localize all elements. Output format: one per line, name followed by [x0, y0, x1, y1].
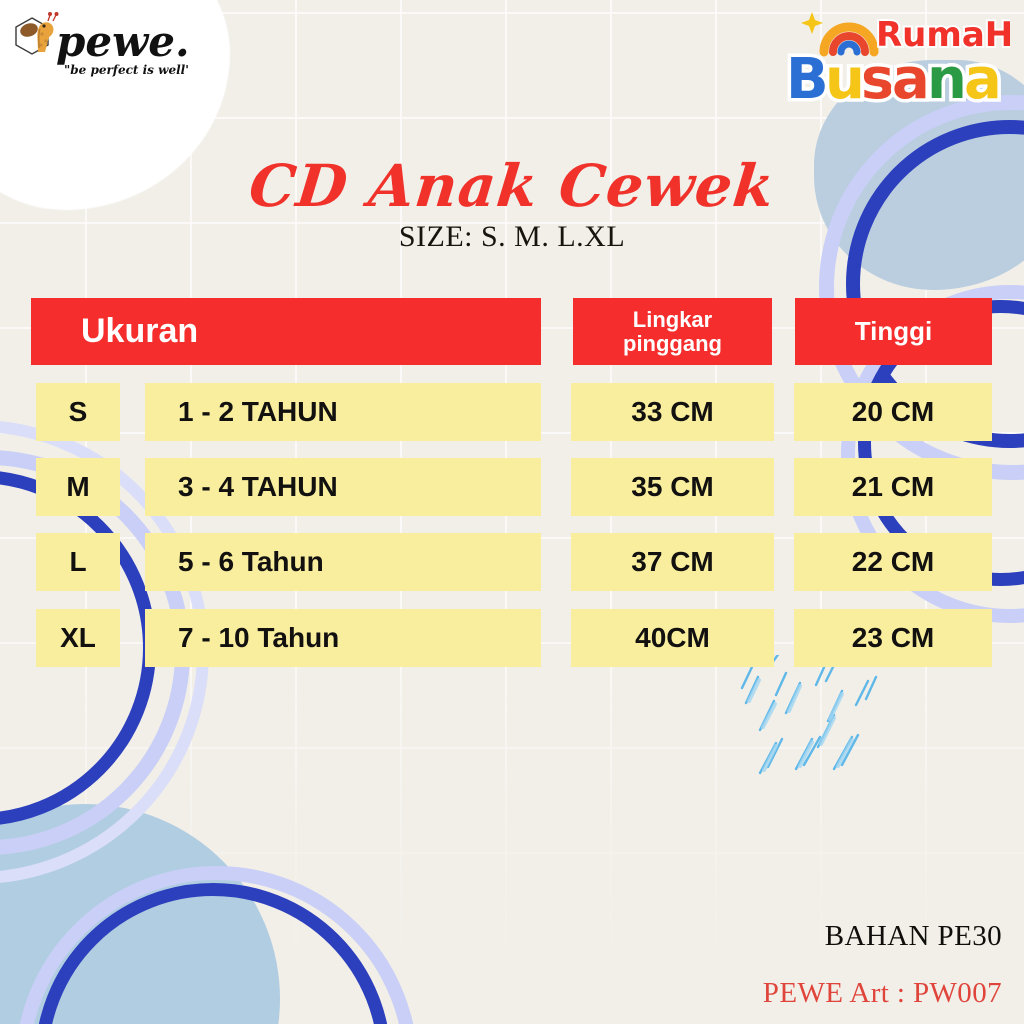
table-row: 1 - 2 TAHUN — [145, 383, 541, 441]
table-row: 22 CM — [794, 533, 992, 591]
size-chart-page: pewe. "be perfect is well" RumaH B u s a… — [0, 0, 1024, 1024]
table-row: 23 CM — [794, 609, 992, 667]
column-header-tinggi: Tinggi — [795, 298, 992, 365]
table-row: 3 - 4 TAHUN — [145, 458, 541, 516]
material-label: BAHAN PE30 — [825, 920, 1002, 953]
column-header-ukuran-label: Ukuran — [81, 314, 198, 350]
table-row: 20 CM — [794, 383, 992, 441]
article-code-label: PEWE Art : PW007 — [763, 977, 1002, 1010]
column-header-lingkar-line2: pinggang — [623, 332, 722, 355]
table-row: S — [36, 383, 120, 441]
table-row: 37 CM — [571, 533, 774, 591]
table-row: 5 - 6 Tahun — [145, 533, 541, 591]
size-table: Ukuran Lingkar pinggang Tinggi S 1 - 2 T… — [0, 0, 1024, 1024]
table-row: 40CM — [571, 609, 774, 667]
column-header-ukuran: Ukuran — [31, 298, 541, 365]
column-header-tinggi-label: Tinggi — [855, 318, 933, 345]
table-row: 33 CM — [571, 383, 774, 441]
column-header-lingkar-line1: Lingkar — [633, 308, 712, 331]
table-row: 35 CM — [571, 458, 774, 516]
table-row: 7 - 10 Tahun — [145, 609, 541, 667]
table-row: M — [36, 458, 120, 516]
table-row: XL — [36, 609, 120, 667]
table-row: L — [36, 533, 120, 591]
column-header-lingkar-pinggang: Lingkar pinggang — [573, 298, 772, 365]
table-row: 21 CM — [794, 458, 992, 516]
